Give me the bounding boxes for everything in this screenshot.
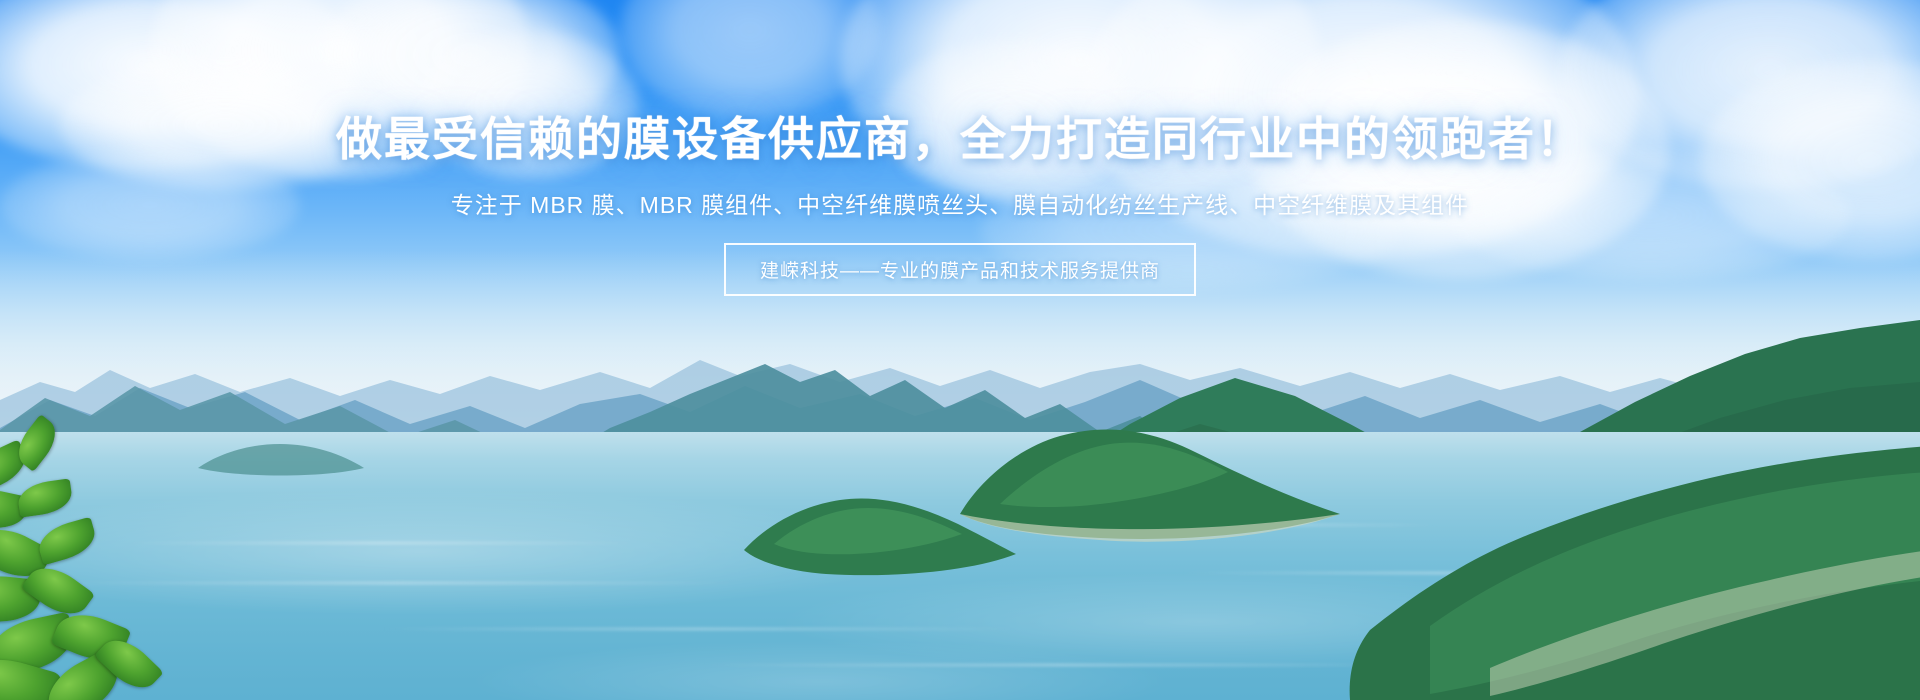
banner-text-overlay: 做最受信赖的膜设备供应商，全力打造同行业中的领跑者！ 专注于 MBR 膜、MBR… [0,0,1920,700]
banner-subtitle: 专注于 MBR 膜、MBR 膜组件、中空纤维膜喷丝头、膜自动化纺丝生产线、中空纤… [0,186,1920,220]
banner-tagline-wrapper: 建嵘科技——专业的膜产品和技术服务提供商 [0,243,1920,296]
hero-banner: 做最受信赖的膜设备供应商，全力打造同行业中的领跑者！ 专注于 MBR 膜、MBR… [0,0,1920,700]
banner-tagline-box: 建嵘科技——专业的膜产品和技术服务提供商 [724,243,1196,296]
banner-headline: 做最受信赖的膜设备供应商，全力打造同行业中的领跑者！ [0,108,1920,170]
